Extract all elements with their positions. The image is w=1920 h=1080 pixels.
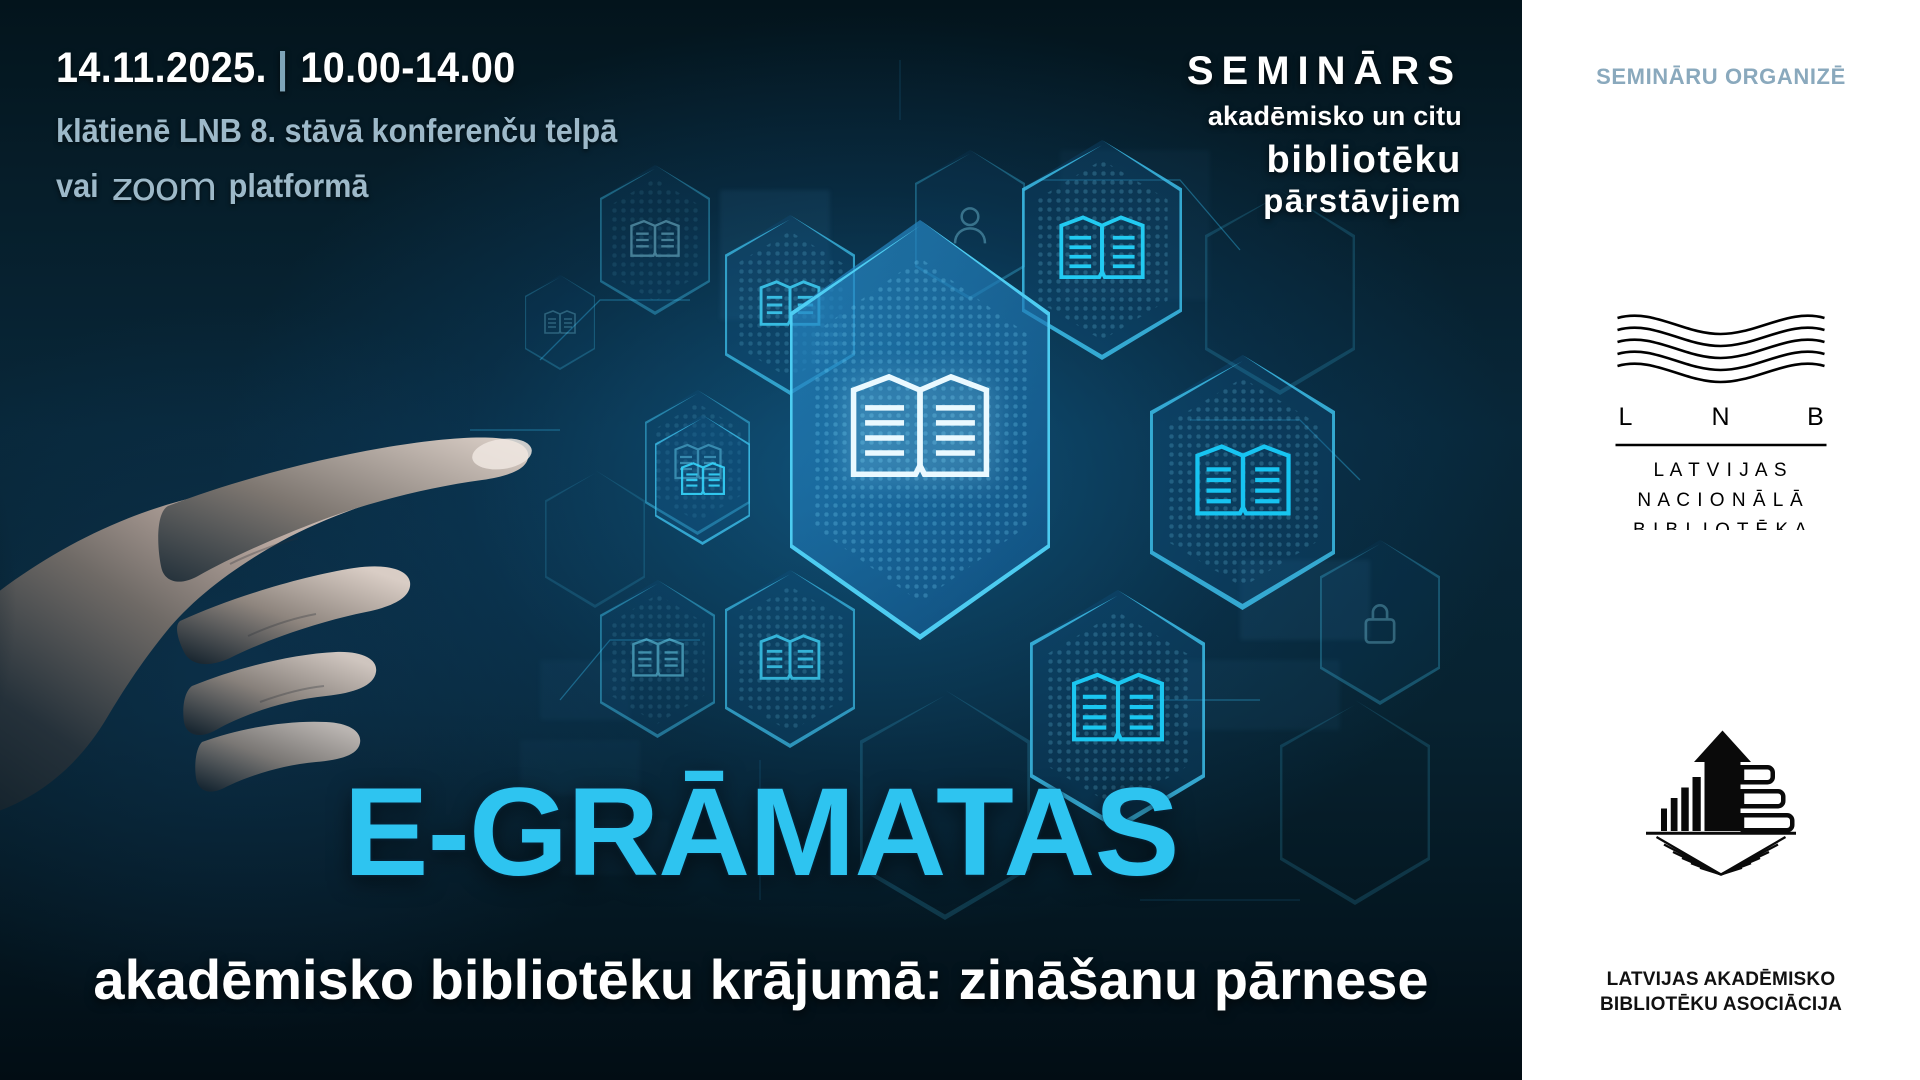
zoom-logo-wordmark: zoom [112, 169, 216, 207]
seminar-audience-line1: akadēmisko un citu [1187, 102, 1462, 131]
event-time: 10.00-14.00 [300, 44, 515, 92]
book-icon [1191, 440, 1295, 525]
book-icon [543, 309, 577, 337]
lock-icon [1360, 600, 1400, 646]
book-icon [844, 368, 996, 492]
poster-main-title: E-GRĀMATAS [0, 770, 1522, 895]
hex-lock-cell [1320, 540, 1440, 705]
event-datetime: 14.11.2025.|10.00-14.00 [56, 44, 611, 93]
seminar-audience-line2: bibliotēku [1187, 140, 1462, 180]
poster-root: 14.11.2025.|10.00-14.00 klātienē LNB 8. … [0, 0, 1920, 1080]
hex-book-cell [725, 570, 855, 748]
event-date: 14.11.2025. [56, 44, 267, 92]
organizers-sidebar: SEMINĀRU ORGANIZĒ L N B L A T V I J A S … [1522, 0, 1920, 1080]
lnb-letter-l: L [1619, 403, 1633, 431]
seminar-label: SEMINĀRS [1187, 50, 1462, 92]
lnb-name-line2: N A C I O N Ā L Ā [1637, 490, 1803, 511]
book-icon [1068, 669, 1168, 751]
lnb-logo: L N B L A T V I J A S N A C I O N Ā L Ā … [1614, 300, 1829, 530]
lnb-letter-n: N [1711, 403, 1729, 431]
organizers-heading: SEMINĀRU ORGANIZĒ [1522, 64, 1920, 90]
book-icon [1055, 212, 1149, 288]
hex-outline-cell [1205, 190, 1355, 395]
poster-subtitle: akadēmisko bibliotēku krājumā: zināšanu … [0, 952, 1522, 1008]
platform-suffix: platformā [229, 167, 369, 205]
lnb-name-line1: L A T V I J A S [1653, 460, 1787, 481]
book-icon [679, 461, 727, 500]
hex-book-cell [525, 275, 595, 370]
hero-image-panel: 14.11.2025.|10.00-14.00 klātienē LNB 8. … [0, 0, 1522, 1080]
platform-prefix: vai [56, 167, 99, 205]
laba-logo [1646, 720, 1796, 878]
book-icon [628, 218, 682, 262]
book-icon [757, 632, 823, 686]
laba-caption-line2: BIBLIOTĒKU ASOCIĀCIJA [1522, 993, 1920, 1018]
laba-caption: LATVIJAS AKADĒMISKO BIBLIOTĒKU ASOCIĀCIJ… [1522, 968, 1920, 1017]
event-info-block: 14.11.2025.|10.00-14.00 klātienē LNB 8. … [56, 44, 659, 208]
seminar-audience-line3: pārstāvjiem [1187, 184, 1462, 219]
hex-book-cell [655, 415, 750, 545]
datetime-separator: | [277, 44, 288, 92]
laba-caption-line1: LATVIJAS AKADĒMISKO [1522, 968, 1920, 993]
pointing-hand-image [0, 386, 650, 816]
event-venue: klātienē LNB 8. stāvā konferenču telpā [56, 112, 617, 150]
event-platform: vai zoom platformā [56, 164, 617, 208]
seminar-heading-block: SEMINĀRS akadēmisko un citu bibliotēku p… [1187, 50, 1462, 219]
lnb-name-line3: B I B L I O T Ē K A [1633, 520, 1808, 530]
lnb-letter-b: B [1807, 403, 1824, 431]
